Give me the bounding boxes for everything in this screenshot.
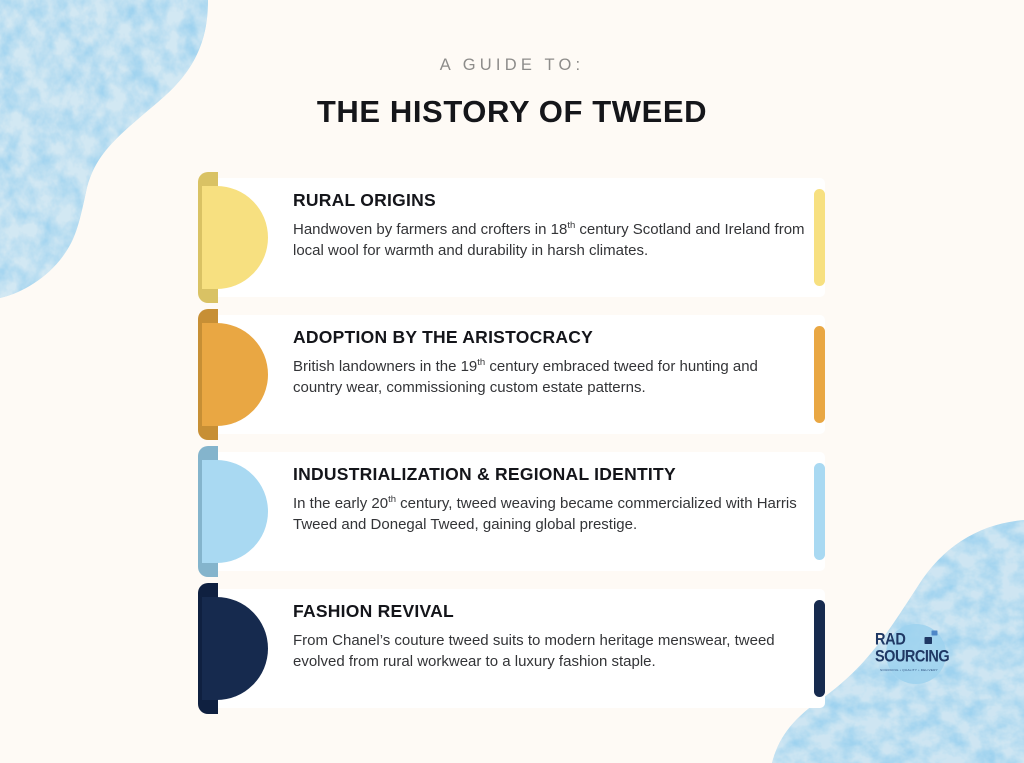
card-text-block: RURAL ORIGINS Handwoven by farmers and c… xyxy=(293,190,805,261)
card-text-block: ADOPTION BY THE ARISTOCRACY British land… xyxy=(293,327,805,398)
timeline-card-list: RURAL ORIGINS Handwoven by farmers and c… xyxy=(0,178,1024,726)
logo-tagline: SOURCING • QUALITY • DELIVERY xyxy=(880,668,938,672)
eyebrow-text: A GUIDE TO: xyxy=(0,56,1024,76)
card-body: British landowners in the 19th century e… xyxy=(293,357,805,398)
card-accent-bar xyxy=(814,463,825,560)
card-title: RURAL ORIGINS xyxy=(293,190,805,211)
card-body: Handwoven by farmers and crofters in 18t… xyxy=(293,220,805,261)
card-body-pre: Handwoven by farmers and crofters in 18 xyxy=(293,221,567,238)
card-title: FASHION REVIVAL xyxy=(293,601,805,622)
card-accent-bar xyxy=(814,326,825,423)
card-text-block: INDUSTRIALIZATION & REGIONAL IDENTITY In… xyxy=(293,464,805,535)
marker-d-shape xyxy=(202,460,268,563)
logo-arrow-squares-icon xyxy=(923,630,939,646)
card-text-block: FASHION REVIVAL From Chanel’s couture tw… xyxy=(293,601,805,672)
card-body: In the early 20th century, tweed weaving… xyxy=(293,494,805,535)
marker-d-shape xyxy=(202,597,268,700)
card-body-pre: From Chanel’s couture tweed suits to mod… xyxy=(293,632,775,670)
marker-d-shape xyxy=(202,323,268,426)
card-marker xyxy=(198,172,270,303)
card-title: ADOPTION BY THE ARISTOCRACY xyxy=(293,327,805,348)
card-body: From Chanel’s couture tweed suits to mod… xyxy=(293,631,805,672)
page-header: A GUIDE TO: THE HISTORY OF TWEED xyxy=(0,56,1024,129)
logo-line-sourcing: SOURCING xyxy=(875,648,949,666)
timeline-card[interactable]: INDUSTRIALIZATION & REGIONAL IDENTITY In… xyxy=(0,452,1024,571)
page-title: THE HISTORY OF TWEED xyxy=(0,94,1024,130)
card-marker xyxy=(198,583,270,714)
timeline-card[interactable]: ADOPTION BY THE ARISTOCRACY British land… xyxy=(0,315,1024,434)
card-accent-bar xyxy=(814,600,825,697)
card-body-pre: In the early 20 xyxy=(293,495,388,512)
logo-line-rad: RAD xyxy=(875,631,906,649)
card-title: INDUSTRIALIZATION & REGIONAL IDENTITY xyxy=(293,464,805,485)
timeline-card[interactable]: FASHION REVIVAL From Chanel’s couture tw… xyxy=(0,589,1024,708)
card-body-superscript: th xyxy=(388,494,396,505)
brand-logo[interactable]: RAD SOURCING SOURCING • QUALITY • DELIVE… xyxy=(872,622,964,686)
card-marker xyxy=(198,446,270,577)
card-body-pre: British landowners in the 19 xyxy=(293,358,477,375)
card-accent-bar xyxy=(814,189,825,286)
marker-d-shape xyxy=(202,186,268,289)
card-marker xyxy=(198,309,270,440)
timeline-card[interactable]: RURAL ORIGINS Handwoven by farmers and c… xyxy=(0,178,1024,297)
